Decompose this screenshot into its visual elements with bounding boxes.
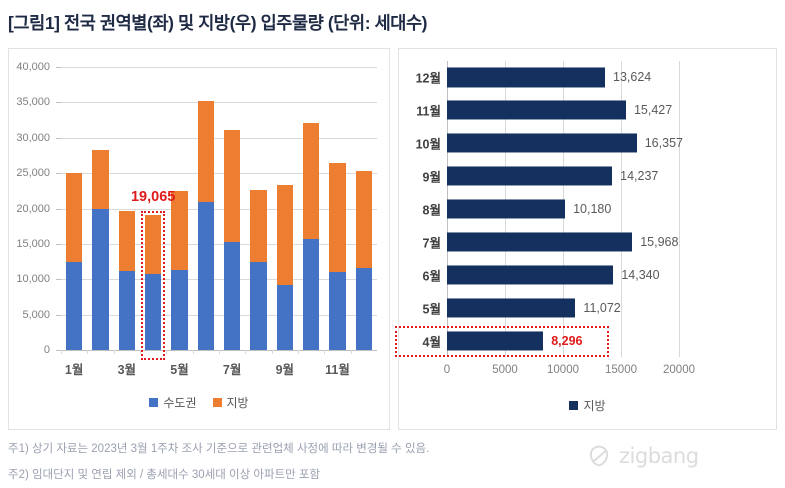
right-chart-category-label: 7월 <box>401 232 441 251</box>
left-chart-y-tickmark <box>56 102 61 103</box>
left-chart-column <box>198 101 214 350</box>
left-chart-column <box>329 163 345 350</box>
right-chart-legend: 지방 <box>399 397 776 414</box>
right-chart-legend-item-1: 지방 <box>569 397 605 414</box>
left-chart-segment-local <box>171 270 187 350</box>
left-chart-segment-region <box>66 173 82 262</box>
left-chart-gridline <box>61 102 377 103</box>
legend-label: 지방 <box>583 397 605 414</box>
left-chart-segment-region <box>92 150 108 209</box>
right-chart-value-label: 14,340 <box>621 268 659 282</box>
left-chart-segment-region <box>356 171 372 267</box>
left-chart-x-tick-label: 3월 <box>101 359 154 378</box>
left-chart-y-tickmark <box>56 315 61 316</box>
right-chart-x-tick-label: 20000 <box>663 364 695 376</box>
right-chart-bar <box>447 232 632 251</box>
left-chart-segment-region <box>224 130 240 243</box>
left-chart-y-tick-label: 25,000 <box>16 167 50 179</box>
right-chart-bar <box>447 331 543 350</box>
left-chart-y-tick-label: 5,000 <box>22 309 50 321</box>
right-chart-x-tick-label: 5000 <box>492 364 518 376</box>
legend-label: 수도권 <box>163 394 196 411</box>
left-chart-y-tick-label: 40,000 <box>16 61 50 73</box>
left-chart-segment-local <box>277 285 293 350</box>
right-chart-category-label: 6월 <box>401 265 441 284</box>
right-chart-panel: 지방 0500010000150002000012월13,62411월15,42… <box>398 48 777 430</box>
right-chart-category-label: 10월 <box>401 134 441 153</box>
zigbang-wordmark: zigbang <box>619 444 699 468</box>
right-chart-x-tick-label: 15000 <box>605 364 637 376</box>
right-chart-bar <box>447 167 612 186</box>
left-chart-y-tick-label: 0 <box>44 344 50 356</box>
right-chart-bar <box>447 134 637 153</box>
right-chart-bar <box>447 265 613 284</box>
footnote-2: 주2) 임대단지 및 연립 제외 / 총세대수 30세대 이상 아파트만 포함 <box>8 466 320 482</box>
left-chart-segment-region <box>303 123 319 239</box>
left-chart-y-tickmark <box>56 244 61 245</box>
left-chart-segment-local <box>119 271 135 350</box>
left-chart-segment-local <box>92 209 108 350</box>
left-chart-segment-local <box>198 202 214 350</box>
left-chart-x-tickmark <box>219 350 220 354</box>
left-chart-column <box>356 171 372 350</box>
page-title: [그림1] 전국 권역별(좌) 및 지방(우) 입주물량 (단위: 세대수) <box>8 10 427 35</box>
left-chart-segment-region <box>198 101 214 202</box>
zigbang-leaf-icon <box>586 443 612 469</box>
right-chart-value-label: 13,624 <box>613 70 651 84</box>
left-chart-x-tickmark <box>166 350 167 354</box>
footnote-1: 주1) 상기 자료는 2023년 3월 1주차 조사 기준으로 관련업체 사정에… <box>8 440 429 456</box>
legend-color-swatch <box>149 398 158 407</box>
right-chart-category-label: 9월 <box>401 167 441 186</box>
right-chart-category-label: 11월 <box>401 101 441 120</box>
left-chart-column <box>277 185 293 350</box>
left-chart-legend-item-2: 지방 <box>213 394 249 411</box>
left-chart-column <box>66 173 82 350</box>
right-chart-value-label: 15,968 <box>640 235 678 249</box>
left-chart-x-tick-label: 11월 <box>311 359 364 378</box>
left-chart-y-tick-label: 20,000 <box>16 203 50 215</box>
left-chart-segment-local <box>303 239 319 350</box>
left-chart-y-tickmark <box>56 173 61 174</box>
left-chart-x-tickmark <box>324 350 325 354</box>
left-chart-column <box>145 215 161 350</box>
left-chart-x-tick-label: 5월 <box>153 359 206 378</box>
left-chart-gridline <box>61 138 377 139</box>
right-chart-value-label: 11,072 <box>583 301 620 315</box>
left-chart-x-tickmark <box>87 350 88 354</box>
right-chart-value-label: 16,357 <box>645 136 683 150</box>
left-chart-segment-region <box>277 185 293 286</box>
right-chart-bar <box>447 298 575 317</box>
left-chart-segment-region <box>145 215 161 274</box>
left-chart-x-tickmark <box>351 350 352 354</box>
right-chart-value-label: 10,180 <box>573 202 611 216</box>
left-chart-segment-local <box>145 274 161 350</box>
left-chart-segment-local <box>329 272 345 350</box>
left-chart-x-tick-label: 1월 <box>48 359 101 378</box>
left-chart-column <box>303 123 319 350</box>
left-chart-legend: 수도권지방 <box>9 394 389 411</box>
left-chart-y-tick-label: 35,000 <box>16 96 50 108</box>
right-chart-value-label: 14,237 <box>620 169 658 183</box>
right-chart-bar <box>447 68 605 87</box>
right-chart-bar <box>447 101 626 120</box>
left-chart-legend-item-1: 수도권 <box>149 394 196 411</box>
left-chart-y-tick-label: 30,000 <box>16 132 50 144</box>
left-chart-y-tick-label: 15,000 <box>16 238 50 250</box>
left-chart-y-tickmark <box>56 67 61 68</box>
left-chart-x-tick-label: 9월 <box>259 359 312 378</box>
legend-color-swatch <box>569 401 578 410</box>
left-chart-plot-area <box>61 67 377 350</box>
right-chart-category-label: 5월 <box>401 298 441 317</box>
left-chart-x-tickmark <box>193 350 194 354</box>
right-chart-bar <box>447 199 565 218</box>
left-chart-x-tickmark <box>245 350 246 354</box>
left-chart-panel: 수도권지방 05,00010,00015,00020,00025,00030,0… <box>8 48 390 430</box>
left-chart-x-tickmark <box>272 350 273 354</box>
left-chart-column <box>171 191 187 350</box>
left-chart-y-tickmark <box>56 138 61 139</box>
left-chart-column <box>92 150 108 350</box>
right-chart-category-label: 12월 <box>401 68 441 87</box>
left-chart-y-tickmark <box>56 209 61 210</box>
legend-label: 지방 <box>227 394 249 411</box>
left-chart-x-tick-label: 7월 <box>206 359 259 378</box>
left-chart-x-tickmark <box>114 350 115 354</box>
left-chart-y-tick-label: 10,000 <box>16 273 50 285</box>
right-chart-row <box>447 291 679 324</box>
left-chart-highlight-label: 19,065 <box>131 189 175 205</box>
left-chart-x-tickmark <box>298 350 299 354</box>
zigbang-logo: zigbang <box>586 443 699 469</box>
left-chart-segment-region <box>119 211 135 270</box>
left-chart-segment-local <box>66 262 82 350</box>
right-chart-category-label: 4월 <box>401 331 441 350</box>
left-chart-column <box>119 211 135 350</box>
right-chart-value-label: 8,296 <box>551 334 582 348</box>
left-chart-segment-region <box>329 163 345 272</box>
right-chart-category-label: 8월 <box>401 200 441 219</box>
left-chart-x-tickmark <box>140 350 141 354</box>
left-chart-x-tickmark <box>61 350 62 354</box>
left-chart-segment-local <box>224 242 240 350</box>
legend-color-swatch <box>213 398 222 407</box>
chart-page: [그림1] 전국 권역별(좌) 및 지방(우) 입주물량 (단위: 세대수) 수… <box>0 0 785 488</box>
right-chart-value-label: 15,427 <box>634 103 672 117</box>
left-chart-column <box>224 130 240 351</box>
right-chart-gridline <box>679 61 680 357</box>
right-chart-x-tick-label: 10000 <box>547 364 579 376</box>
left-chart-segment-region <box>250 190 266 262</box>
left-chart-gridline <box>61 67 377 68</box>
right-chart-x-tick-label: 0 <box>444 364 450 376</box>
left-chart-segment-local <box>356 268 372 350</box>
left-chart-segment-local <box>250 262 266 350</box>
left-chart-y-tickmark <box>56 279 61 280</box>
right-chart-row <box>447 193 679 226</box>
left-chart-column <box>250 190 266 350</box>
